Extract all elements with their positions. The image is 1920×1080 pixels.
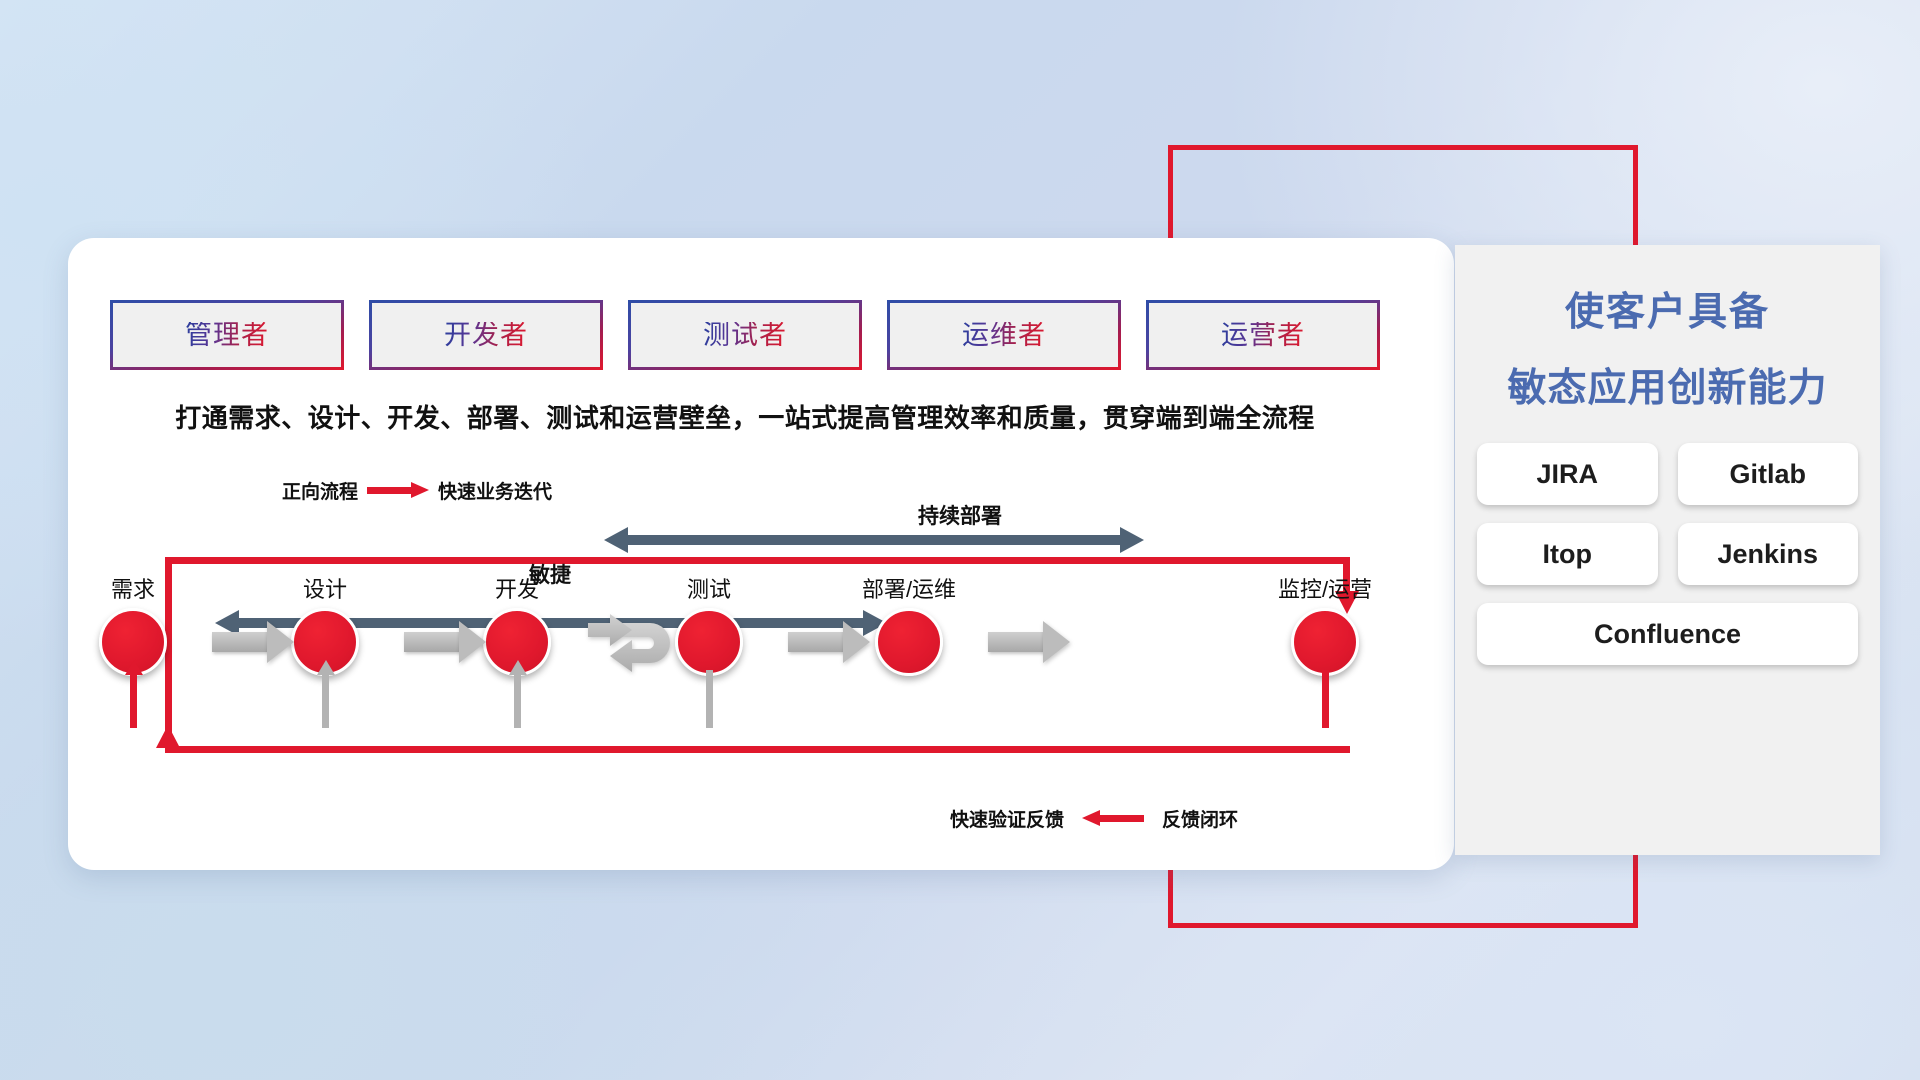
tool-pill-jenkins[interactable]: Jenkins <box>1678 523 1859 585</box>
role-label: 测试者 <box>703 322 787 349</box>
tool-pill-itop[interactable]: Itop <box>1477 523 1658 585</box>
outcome-title-line2: 敏态应用创新能力 <box>1455 357 1880 413</box>
feedback-legend: 快速验证反馈 反馈闭环 <box>950 805 1238 832</box>
continuous-deployment-label: 持续部署 <box>918 505 1002 528</box>
feedback-label-right: 反馈闭环 <box>1162 805 1238 832</box>
arrow-head-left-icon <box>604 527 628 553</box>
stem-development <box>514 670 521 728</box>
pipeline-node-label: 部署/运维 <box>862 572 956 604</box>
outcome-panel-title: 使客户具备 敏态应用创新能力 <box>1455 281 1880 413</box>
arrow-head-right-icon <box>1120 527 1144 553</box>
arrow-right-red-icon <box>367 482 429 499</box>
arrow-head-icon <box>459 621 486 663</box>
outcome-title-line1: 使客户具备 <box>1455 281 1880 337</box>
role-label: 管理者 <box>185 322 269 349</box>
pipeline-row: 需求 设计 开发 <box>100 608 1360 728</box>
loop-arrow-up-icon <box>156 725 180 748</box>
role-label: 运营者 <box>1221 322 1305 349</box>
pipeline-node-label: 监控/运营 <box>1278 572 1372 604</box>
iterate-loop-arrow-icon <box>580 611 695 686</box>
role-label: 开发者 <box>444 322 528 349</box>
tool-pill-gitlab[interactable]: Gitlab <box>1678 443 1859 505</box>
diagram-canvas: 管理者 开发者 测试者 运维者 运营者 打通需求、设计、开发、部署、测试和运营壁… <box>0 0 1920 1080</box>
arrow-bar <box>626 535 1122 545</box>
pipeline-node-label: 测试 <box>687 572 731 604</box>
tool-pill-grid: JIRA Gitlab Itop Jenkins Confluence <box>1477 443 1858 665</box>
flow-arrow-4-icon <box>988 621 1070 663</box>
flow-arrow-2-icon <box>404 621 486 663</box>
role-box-tester[interactable]: 测试者 <box>628 300 862 370</box>
role-box-developer[interactable]: 开发者 <box>369 300 603 370</box>
flow-arrow-1-icon <box>212 621 294 663</box>
role-box-row: 管理者 开发者 测试者 运维者 运营者 <box>110 300 1380 370</box>
arrow-shaft <box>988 632 1044 652</box>
stem-head-design-icon <box>317 660 335 675</box>
stem-monitor <box>1322 670 1329 728</box>
arrow-left-red-icon <box>1082 810 1144 827</box>
arrow-head-icon <box>267 621 294 663</box>
role-box-operations[interactable]: 运营者 <box>1146 300 1380 370</box>
arrow-shaft <box>788 632 844 652</box>
pipeline-node-label: 需求 <box>111 572 155 604</box>
loop-bottom-segment <box>165 746 1350 753</box>
flow-arrow-3-icon <box>788 621 870 663</box>
tool-pill-confluence[interactable]: Confluence <box>1477 603 1858 665</box>
arrow-head-icon <box>1043 621 1070 663</box>
description-text: 打通需求、设计、开发、部署、测试和运营壁垒，一站式提高管理效率和质量，贯穿端到端… <box>110 398 1380 435</box>
pipeline-node-label: 开发 <box>495 572 539 604</box>
stem-testing <box>706 670 713 728</box>
stem-design <box>322 670 329 728</box>
pipeline-node-circle <box>1291 608 1359 676</box>
stem-requirement <box>130 670 137 728</box>
stem-head-development-icon <box>509 660 527 675</box>
arrow-head-icon <box>843 621 870 663</box>
pipeline-node-circle <box>875 608 943 676</box>
outcome-panel: 使客户具备 敏态应用创新能力 JIRA Gitlab Itop Jenkins … <box>1455 245 1880 855</box>
role-label: 运维者 <box>962 322 1046 349</box>
role-box-manager[interactable]: 管理者 <box>110 300 344 370</box>
feedback-label-left: 快速验证反馈 <box>950 805 1064 832</box>
arrow-shaft <box>404 632 460 652</box>
role-box-ops[interactable]: 运维者 <box>887 300 1121 370</box>
continuous-deployment-span-arrow <box>604 527 1144 553</box>
arrow-shaft <box>212 632 268 652</box>
tool-pill-jira[interactable]: JIRA <box>1477 443 1658 505</box>
stem-head-requirement-icon <box>125 660 143 675</box>
pipeline-node-label: 设计 <box>303 572 347 604</box>
